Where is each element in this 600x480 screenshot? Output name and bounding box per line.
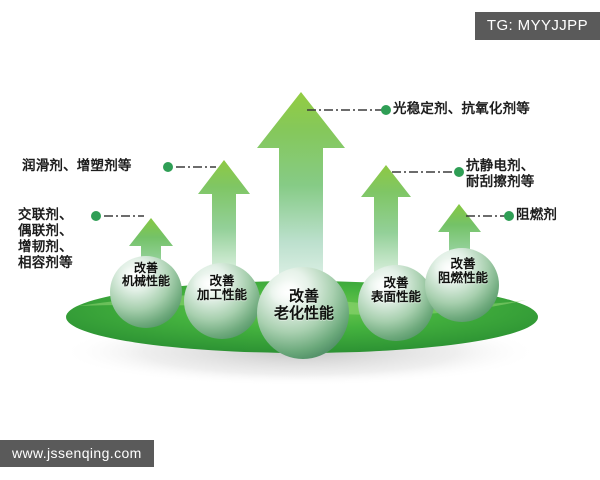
bullet-dot-icon bbox=[91, 211, 101, 221]
sphere-surface bbox=[358, 265, 434, 341]
infographic-canvas: 交联剂、 偶联剂、 增韧剂、 相容剂等 润滑剂、增塑剂等 光稳定剂、抗氧化剂等 … bbox=[0, 0, 600, 480]
callout-light-stabilizers-antioxidants: 光稳定剂、抗氧化剂等 bbox=[393, 101, 530, 117]
sphere-processing bbox=[184, 263, 260, 339]
bullet-dot-icon bbox=[163, 162, 173, 172]
bullet-dot-icon bbox=[454, 167, 464, 177]
bullet-dot-icon bbox=[381, 105, 391, 115]
sphere-mechanical bbox=[110, 256, 182, 328]
tg-watermark-badge: TG: MYYJJPP bbox=[475, 12, 600, 40]
callout-cross-linking-agents: 交联剂、 偶联剂、 增韧剂、 相容剂等 bbox=[18, 207, 73, 271]
site-watermark-badge: www.jssenqing.com bbox=[0, 440, 154, 467]
callout-flame-retardant: 阻燃剂 bbox=[516, 207, 557, 223]
sphere-aging bbox=[257, 267, 349, 359]
callout-antistatic-scratch-resistant: 抗静电剂、 耐刮擦剂等 bbox=[466, 158, 535, 190]
bullet-dot-icon bbox=[504, 211, 514, 221]
callout-lubricants-plasticizers: 润滑剂、增塑剂等 bbox=[22, 158, 132, 174]
growth-arrows-diagram bbox=[0, 0, 600, 480]
sphere-flame bbox=[425, 248, 499, 322]
